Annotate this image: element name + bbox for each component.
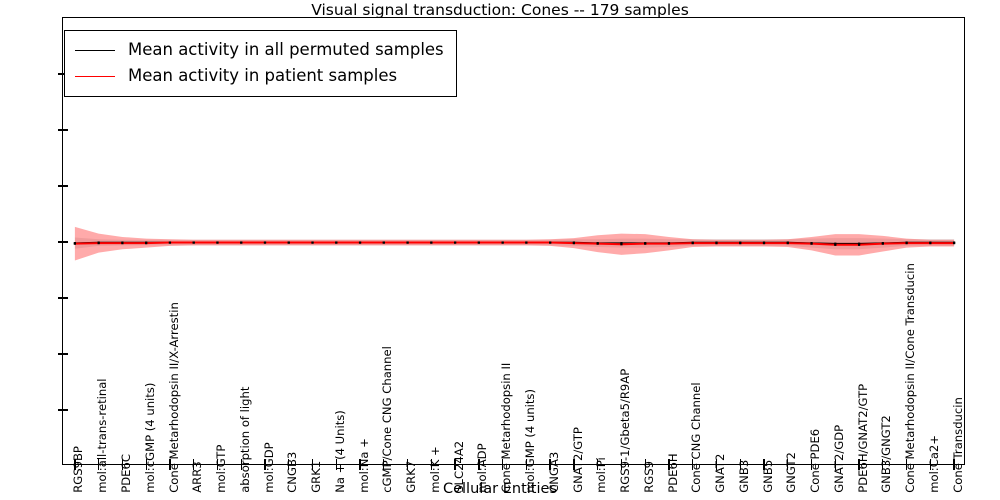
- series-marker: [763, 242, 765, 244]
- series-marker: [739, 242, 741, 244]
- legend-label-permuted: Mean activity in all permuted samples: [128, 42, 444, 59]
- series-marker: [573, 242, 575, 244]
- series-marker: [169, 241, 171, 243]
- series-marker: [905, 242, 907, 244]
- series-marker: [668, 243, 670, 245]
- series-marker: [525, 241, 527, 243]
- legend-swatch-permuted: [75, 50, 115, 51]
- series-marker: [311, 241, 313, 243]
- x-axis-tick-label: GNB3: [739, 460, 751, 493]
- series-marker: [98, 242, 100, 244]
- plot-area: −4−3−2−101234 RGS9BPmol:all-trans-retina…: [62, 17, 965, 465]
- series-marker: [383, 241, 385, 243]
- series-marker: [620, 243, 622, 245]
- series-marker: [858, 244, 860, 246]
- series-marker: [929, 242, 931, 244]
- legend-item-patient: Mean activity in patient samples: [75, 63, 444, 89]
- legend: Mean activity in all permuted samples Me…: [64, 30, 457, 97]
- series-marker: [454, 241, 456, 243]
- x-axis-tick-label: GRK1: [311, 461, 323, 493]
- legend-label-patient: Mean activity in patient samples: [128, 68, 397, 85]
- series-marker: [787, 242, 789, 244]
- series-marker: [359, 241, 361, 243]
- series-marker: [597, 243, 599, 245]
- series-marker: [478, 241, 480, 243]
- series-marker: [216, 241, 218, 243]
- series-marker: [74, 243, 76, 245]
- series-marker: [692, 242, 694, 244]
- series-marker: [810, 243, 812, 245]
- x-axis-tick-label: GRK7: [406, 461, 418, 493]
- series-marker: [264, 241, 266, 243]
- series-marker: [882, 243, 884, 245]
- series-marker: [953, 242, 955, 244]
- series-marker: [193, 241, 195, 243]
- x-axis-tick-label: RGS9: [644, 461, 656, 493]
- series-marker: [121, 242, 123, 244]
- chart-canvas: Visual signal transduction: Cones -- 179…: [0, 0, 1000, 500]
- legend-item-permuted: Mean activity in all permuted samples: [75, 37, 444, 63]
- x-axis-tick-label: GNB5: [763, 460, 775, 493]
- series-marker: [288, 241, 290, 243]
- series-marker: [430, 241, 432, 243]
- series-marker: [644, 243, 646, 245]
- series-marker: [549, 241, 551, 243]
- series-marker: [240, 241, 242, 243]
- legend-swatch-patient: [75, 76, 115, 77]
- series-marker: [406, 241, 408, 243]
- series-marker: [834, 244, 836, 246]
- series-marker: [502, 241, 504, 243]
- series-marker: [335, 241, 337, 243]
- series-marker: [715, 242, 717, 244]
- x-axis-tick-label: ARR3: [193, 461, 205, 492]
- series-marker: [145, 242, 147, 244]
